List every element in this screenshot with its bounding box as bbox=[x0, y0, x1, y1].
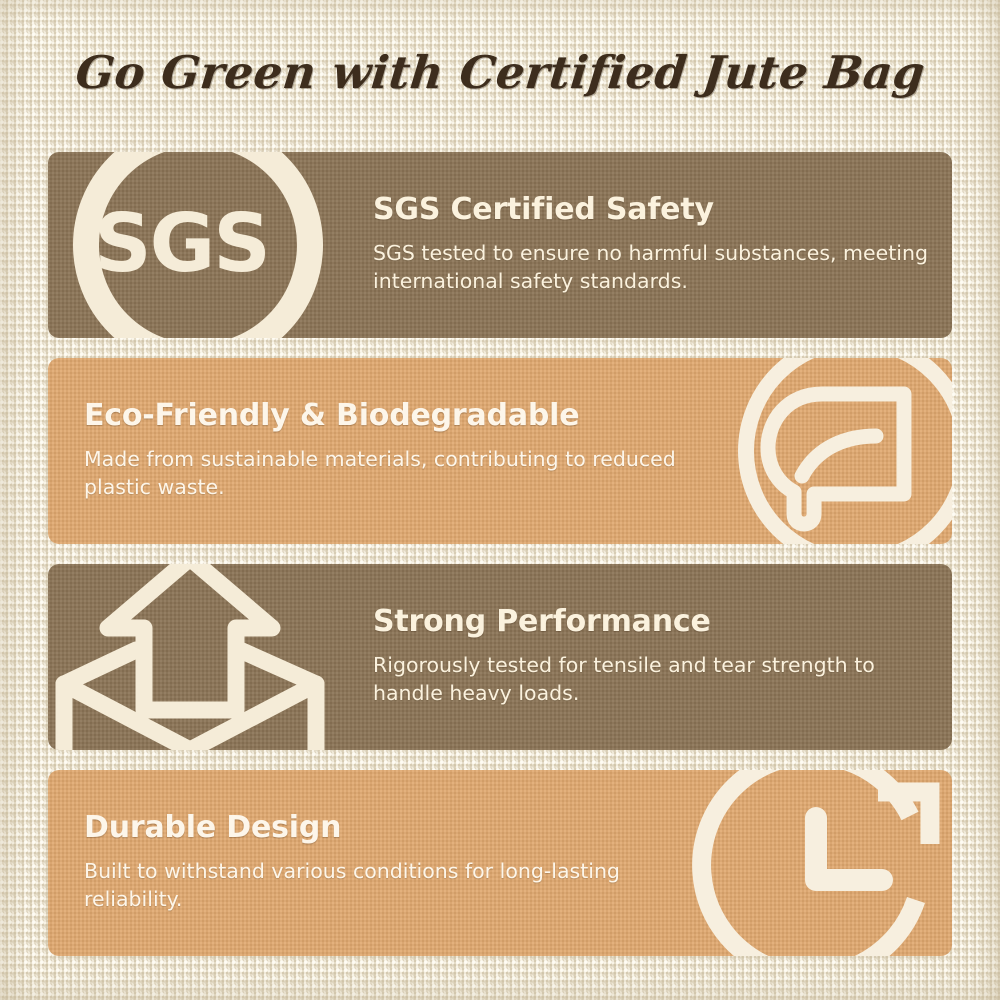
card-description: Built to withstand various conditions fo… bbox=[84, 857, 684, 914]
poster-title-container: Go Green with Certified Jute Bag bbox=[0, 46, 1000, 99]
leaf-in-circle-icon bbox=[652, 358, 952, 544]
card-title: SGS Certified Safety bbox=[373, 194, 933, 226]
card-text-block: Eco-Friendly & Biodegradable Made from s… bbox=[84, 400, 684, 501]
feature-card-durable-design[interactable]: Durable Design Built to withstand variou… bbox=[48, 770, 952, 956]
card-title: Eco-Friendly & Biodegradable bbox=[84, 400, 684, 432]
card-text-block: Durable Design Built to withstand variou… bbox=[84, 812, 684, 913]
feature-card-eco-friendly-biodegradable[interactable]: Eco-Friendly & Biodegradable Made from s… bbox=[48, 358, 952, 544]
clock-rotate-icon bbox=[652, 770, 952, 956]
card-text-block: SGS Certified Safety SGS tested to ensur… bbox=[373, 194, 933, 295]
arrow-out-of-box-icon bbox=[48, 564, 348, 750]
feature-card-strong-performance[interactable]: Strong Performance Rigorously tested for… bbox=[48, 564, 952, 750]
card-description: Rigorously tested for tensile and tear s… bbox=[373, 651, 933, 708]
page-title: Go Green with Certified Jute Bag bbox=[73, 46, 927, 99]
card-title: Strong Performance bbox=[373, 606, 933, 638]
sgs-logo-text: SGS bbox=[94, 204, 269, 284]
card-description: Made from sustainable materials, contrib… bbox=[84, 445, 684, 502]
card-description: SGS tested to ensure no harmful substanc… bbox=[373, 239, 933, 296]
sgs-certification-icon: SGS bbox=[48, 152, 348, 338]
card-text-block: Strong Performance Rigorously tested for… bbox=[373, 606, 933, 707]
feature-card-list: SGS SGS Certified Safety SGS tested to e… bbox=[48, 152, 952, 976]
poster-canvas: Go Green with Certified Jute Bag SGS SGS… bbox=[0, 0, 1000, 1000]
card-title: Durable Design bbox=[84, 812, 684, 844]
feature-card-sgs-certified-safety[interactable]: SGS SGS Certified Safety SGS tested to e… bbox=[48, 152, 952, 338]
